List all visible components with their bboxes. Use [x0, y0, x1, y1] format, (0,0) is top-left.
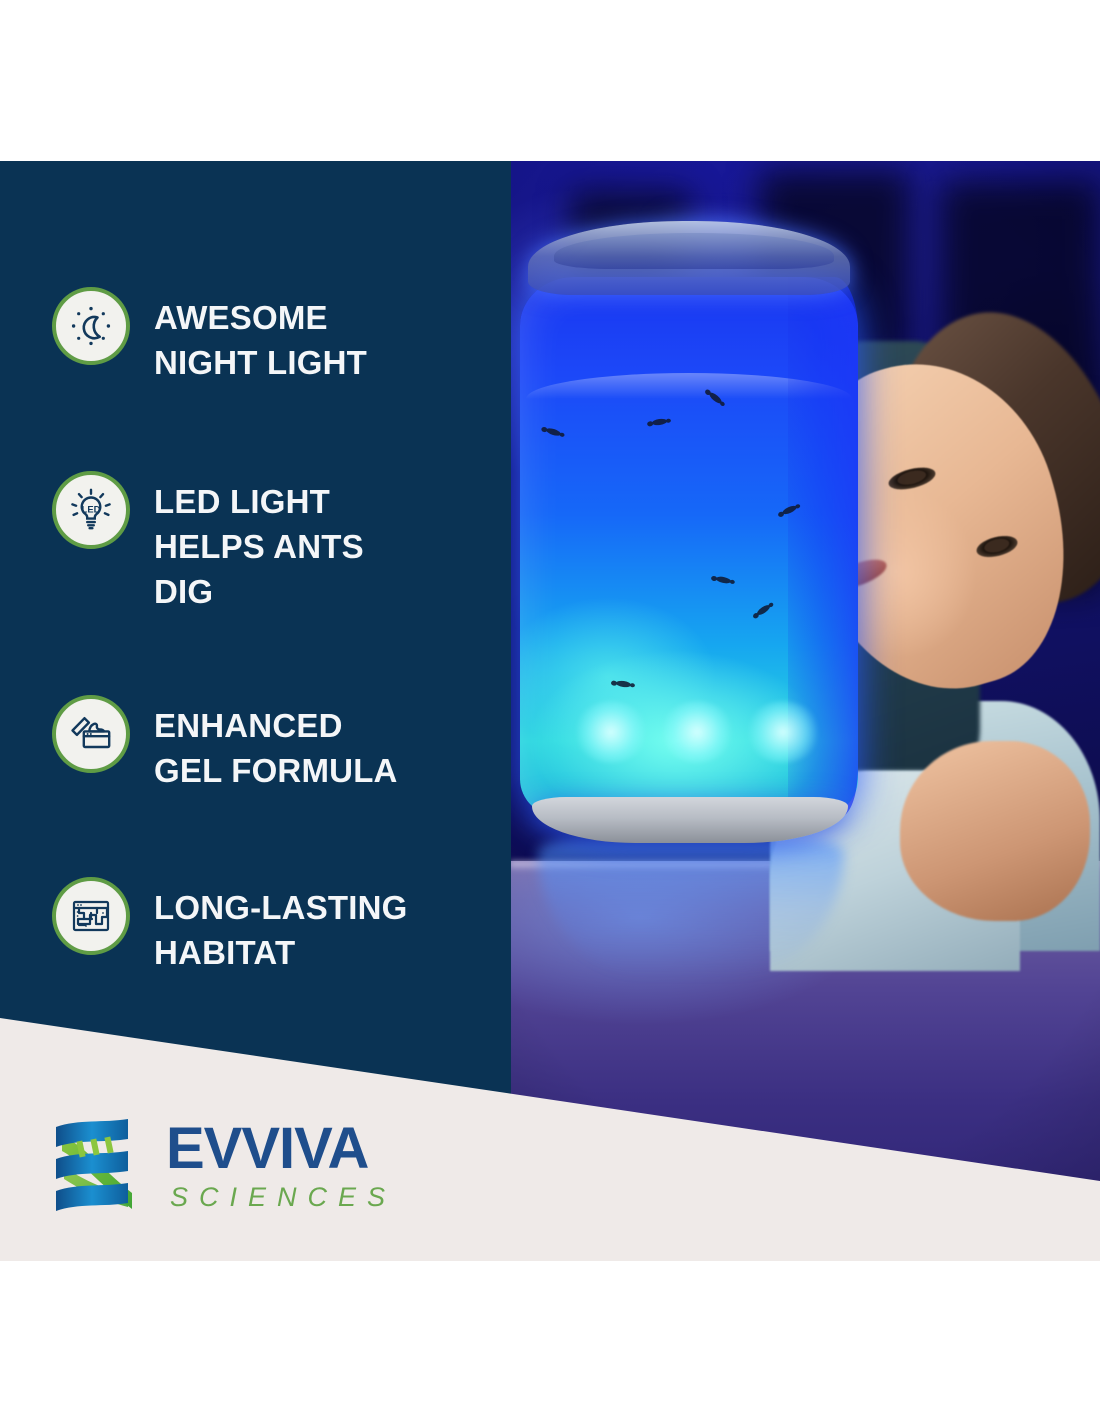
product-lid	[528, 221, 850, 295]
feature-item-night-light: AWESOMENIGHT LIGHT	[52, 287, 492, 385]
product-gel-chamber	[520, 277, 858, 817]
product-feature-graphic: AWESOMENIGHT LIGHT LED LED LIGHTHELPS AN…	[0, 0, 1100, 1422]
product-lid-inner	[554, 233, 834, 269]
feature-item-habitat: LONG-LASTINGHABITAT	[52, 877, 492, 975]
gel-jar-icon	[52, 695, 130, 773]
brand-logo: EVVIVA SCIENCES	[42, 1105, 396, 1225]
feature-label: AWESOMENIGHT LIGHT	[154, 287, 367, 385]
ant	[716, 576, 732, 585]
led-bulb-label: LED	[82, 504, 101, 515]
feature-label: LONG-LASTINGHABITAT	[154, 877, 408, 975]
brand-wordmark: EVVIVA SCIENCES	[166, 1120, 396, 1211]
led-light	[574, 701, 648, 763]
child-hand	[900, 741, 1090, 921]
moon-night-icon	[52, 287, 130, 365]
content-band: AWESOMENIGHT LIGHT LED LED LIGHTHELPS AN…	[0, 161, 1100, 1261]
brand-subtitle: SCIENCES	[170, 1184, 396, 1211]
ant	[652, 418, 668, 426]
gel-ant-farm-product	[520, 221, 860, 881]
feature-label: LED LIGHTHELPS ANTSDIG	[154, 471, 364, 614]
ant	[545, 427, 561, 437]
feature-panel: AWESOMENIGHT LIGHT LED LED LIGHTHELPS AN…	[0, 161, 511, 1261]
led-bulb-icon: LED	[52, 471, 130, 549]
ant	[756, 603, 772, 616]
feature-item-gel-formula: ENHANCEDGEL FORMULA	[52, 695, 492, 793]
feature-item-led-light: LED LED LIGHTHELPS ANTSDIG	[52, 471, 492, 614]
ant	[616, 680, 632, 688]
brand-name: EVVIVA	[166, 1120, 396, 1178]
ant-habitat-icon	[52, 877, 130, 955]
dna-helix-icon	[42, 1105, 150, 1225]
product-base	[532, 797, 848, 843]
led-light	[660, 701, 734, 763]
led-light	[746, 701, 820, 763]
feature-label: ENHANCEDGEL FORMULA	[154, 695, 398, 793]
product-lifestyle-photo	[510, 161, 1100, 1261]
